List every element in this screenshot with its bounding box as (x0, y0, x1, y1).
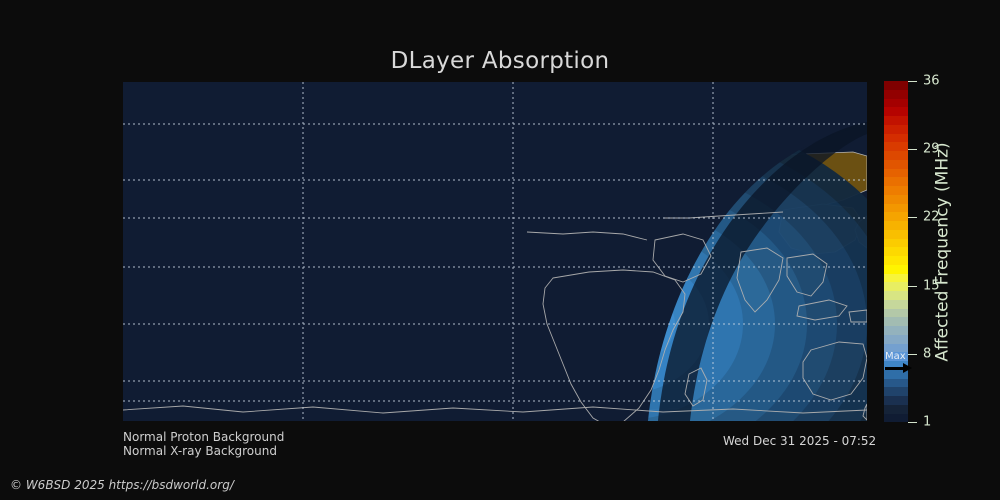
map-canvas (123, 82, 867, 421)
colorbar-tick-dash (908, 354, 917, 355)
colorbar-segment (884, 300, 908, 309)
colorbar-segment (884, 230, 908, 239)
colorbar-segment (884, 186, 908, 195)
app-root: DLayer Absorption (0, 0, 1000, 500)
colorbar-segment (884, 256, 908, 265)
max-marker-label: Max (885, 352, 906, 362)
colorbar-segment (884, 247, 908, 256)
colorbar-segment (884, 116, 908, 125)
colorbar-segment (884, 212, 908, 221)
colorbar-segment (884, 265, 908, 274)
colorbar-segment (884, 291, 908, 300)
colorbar-segment (884, 317, 908, 326)
timestamp: Wed Dec 31 2025 - 07:52 (723, 434, 876, 448)
xray-status: Normal X-ray Background (123, 444, 277, 458)
copyright: © W6BSD 2025 https://bsdworld.org/ (10, 478, 234, 492)
colorbar-segment (884, 81, 908, 90)
colorbar-segment (884, 405, 908, 414)
colorbar-segment (884, 125, 908, 134)
colorbar-segment (884, 195, 908, 204)
colorbar-segment (884, 169, 908, 178)
colorbar[interactable]: Max 3629221581 (884, 81, 908, 422)
colorbar-segment (884, 239, 908, 248)
colorbar-segment (884, 134, 908, 143)
colorbar-segment (884, 160, 908, 169)
colorbar-tick-dash (908, 286, 917, 287)
max-arrow-line (885, 367, 905, 370)
colorbar-segment (884, 282, 908, 291)
colorbar-segment (884, 107, 908, 116)
colorbar-segment (884, 177, 908, 186)
colorbar-segment (884, 309, 908, 318)
proton-status: Normal Proton Background (123, 430, 284, 444)
colorbar-axis-label-text: Affected Frequency (MHz) (933, 142, 953, 361)
absorption-map[interactable] (123, 82, 867, 421)
colorbar-segment (884, 151, 908, 160)
colorbar-segment (884, 90, 908, 99)
colorbar-segment (884, 414, 908, 423)
colorbar-segment (884, 326, 908, 335)
colorbar-tick-dash (908, 422, 917, 423)
colorbar-segment (884, 204, 908, 213)
colorbar-tick-dash (908, 81, 917, 82)
colorbar-segment (884, 221, 908, 230)
colorbar-tick-dash (908, 149, 917, 150)
colorbar-segment (884, 274, 908, 283)
colorbar-segment (884, 335, 908, 344)
colorbar-segment (884, 396, 908, 405)
colorbar-segment (884, 379, 908, 388)
colorbar-axis-label: Affected Frequency (MHz) (928, 81, 958, 422)
colorbar-segment (884, 387, 908, 396)
colorbar-tick-dash (908, 217, 917, 218)
colorbar-segment (884, 142, 908, 151)
page-title: DLayer Absorption (0, 48, 1000, 74)
colorbar-segment (884, 99, 908, 108)
